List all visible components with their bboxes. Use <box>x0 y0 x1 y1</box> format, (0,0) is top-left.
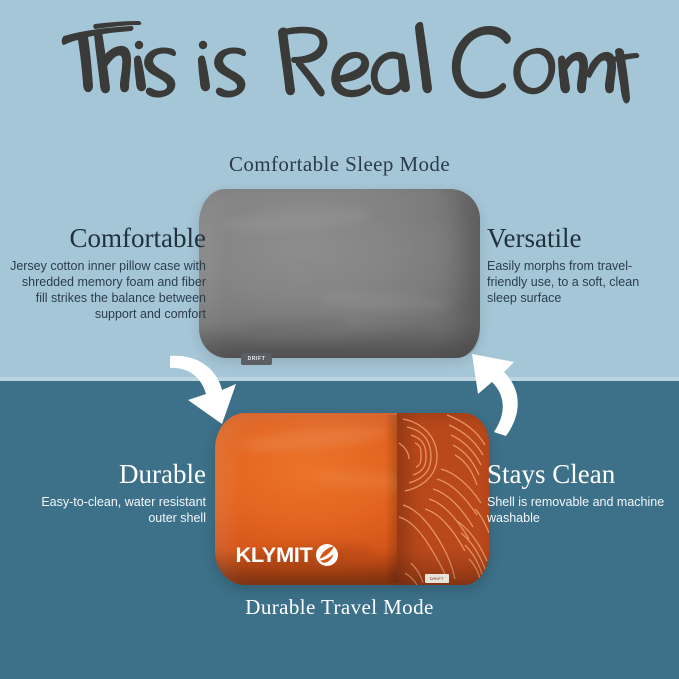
feature-body: Shell is removable and machine washable <box>487 494 677 526</box>
curved-down-left-arrow-icon <box>158 350 250 442</box>
feature-stays-clean: Stays Clean Shell is removable and machi… <box>487 458 677 526</box>
feature-versatile: Versatile Easily morphs from travel-frie… <box>487 222 672 306</box>
pillow-crease <box>238 423 389 456</box>
feature-title: Versatile <box>487 222 672 254</box>
pillow-crease <box>220 204 371 236</box>
headline <box>0 14 679 110</box>
klymit-wordmark: KLYMIT <box>236 545 313 566</box>
arrow-to-travel-mode <box>158 350 250 447</box>
gray-pillow-image: DRIFT <box>199 189 480 358</box>
headline-script-text <box>40 14 640 106</box>
feature-durable: Durable Easy-to-clean, water resistant o… <box>10 458 206 526</box>
arrow-to-sleep-mode <box>452 340 544 445</box>
pillow-crease <box>319 290 450 315</box>
klymit-brand-logo: KLYMIT <box>237 543 339 567</box>
orange-pillow-image: KLYMIT DRIFT <box>215 413 489 585</box>
feature-body: Easily morphs from travel-friendly use, … <box>487 258 672 306</box>
feature-body: Easy-to-clean, water resistant outer she… <box>10 494 206 526</box>
sleep-mode-caption: Comfortable Sleep Mode <box>0 152 679 177</box>
feature-comfortable: Comfortable Jersey cotton inner pillow c… <box>10 222 206 322</box>
feature-title: Durable <box>10 458 206 490</box>
klymit-emblem-icon <box>315 543 339 567</box>
curved-up-left-arrow-icon <box>452 340 544 440</box>
feature-title: Stays Clean <box>487 458 677 490</box>
orange-pillow-brand-tag: DRIFT <box>425 574 449 583</box>
feature-body: Jersey cotton inner pillow case with shr… <box>10 258 206 322</box>
product-infographic: Comfortable Sleep Mode Durable Travel Mo… <box>0 0 679 679</box>
travel-mode-caption: Durable Travel Mode <box>0 595 679 620</box>
feature-title: Comfortable <box>10 222 206 254</box>
